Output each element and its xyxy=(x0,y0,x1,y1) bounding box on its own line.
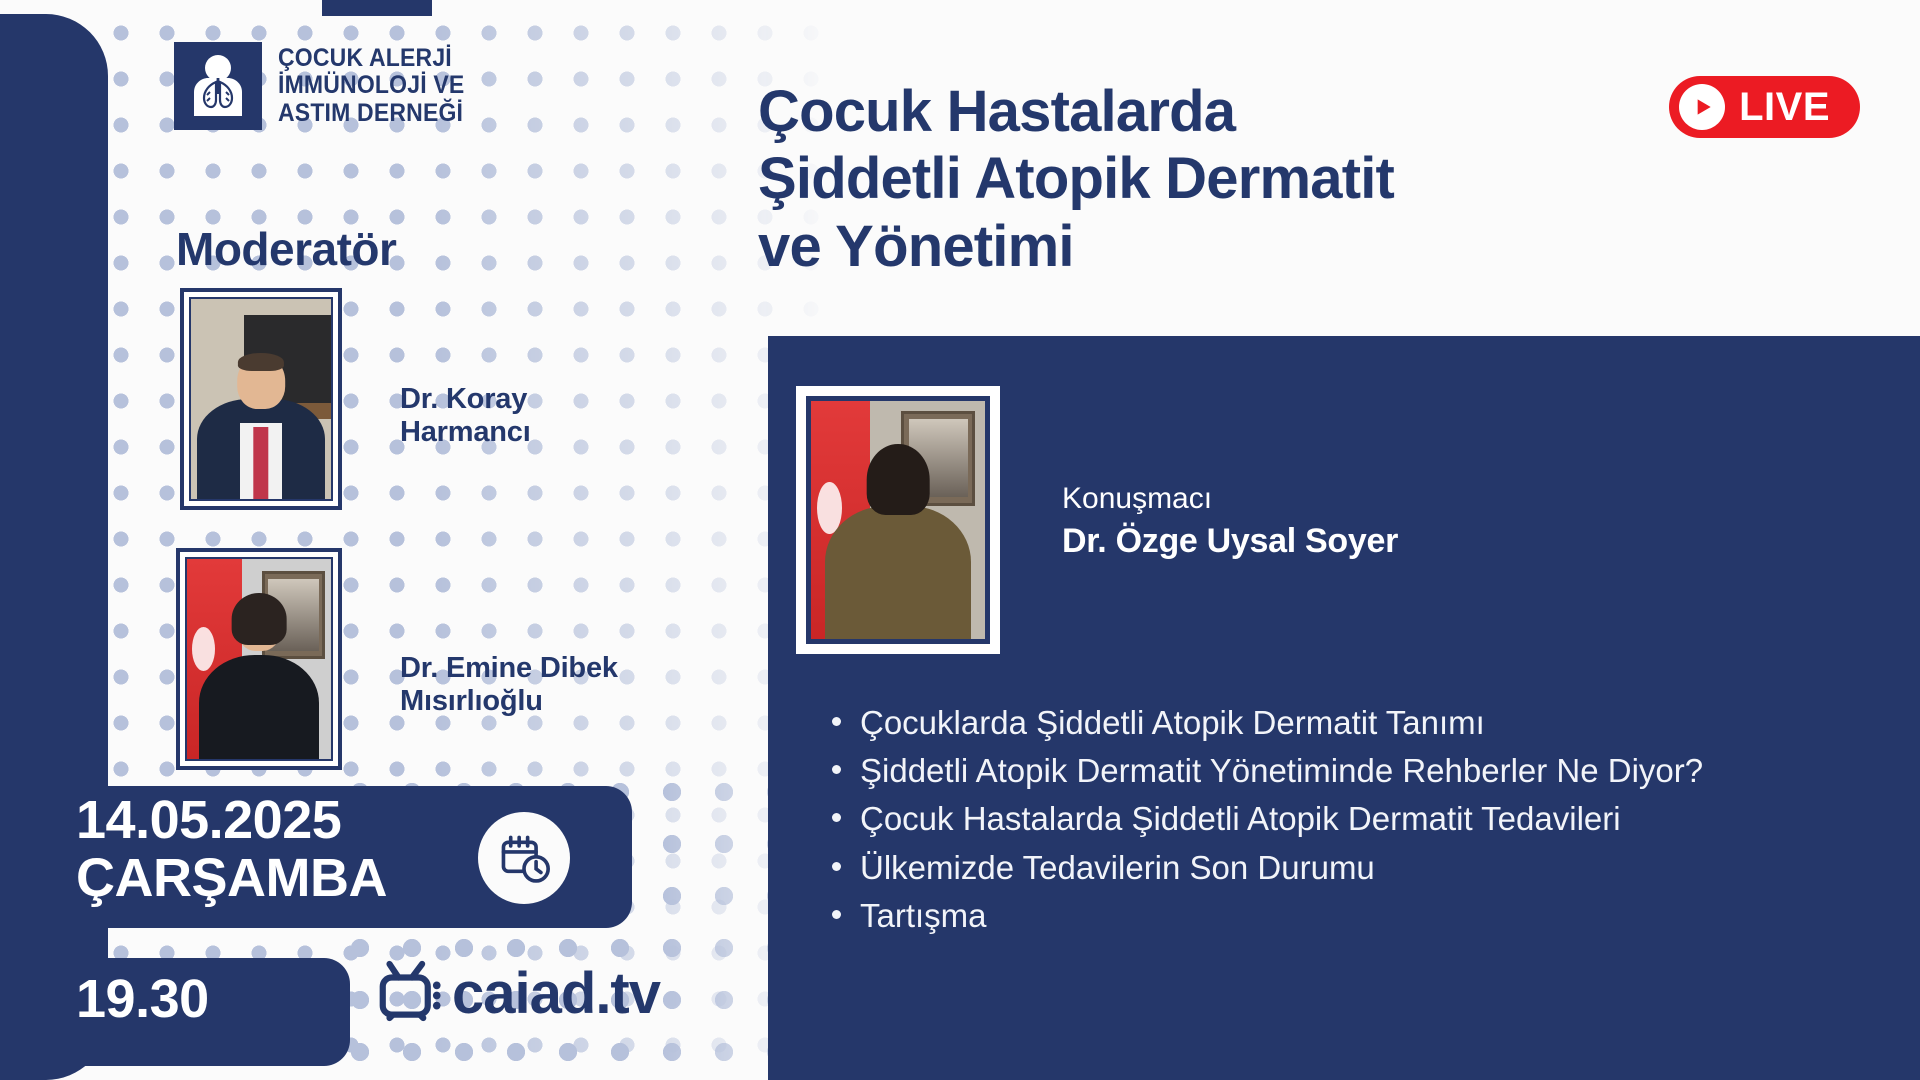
moderator-label: Moderatör xyxy=(176,222,396,276)
speaker-role-label: Konuşmacı xyxy=(1062,482,1212,516)
calendar-clock-icon xyxy=(478,812,570,904)
moderator-2-line-2: Mısırlıoğlu xyxy=(400,685,730,718)
channel-block[interactable]: caiad.tv xyxy=(376,958,660,1029)
organization-logo: ÇOCUK ALERJİ İMMÜNOLOJİ VE ASTIM DERNEĞİ xyxy=(174,42,481,130)
top-accent-tab xyxy=(322,0,432,16)
list-item: Çocuk Hastalarda Şiddetli Atopik Dermati… xyxy=(826,798,1886,840)
moderator-1-line-1: Dr. Koray xyxy=(400,383,690,416)
title-line-3: ve Yönetimi xyxy=(758,213,1818,280)
list-item: Tartışma xyxy=(826,895,1886,937)
portrait-artwork xyxy=(187,559,331,759)
event-date: 14.05.2025 xyxy=(76,792,387,850)
moderator-photo-1 xyxy=(180,288,342,510)
channel-label: caiad.tv xyxy=(452,960,660,1027)
list-item: Ülkemizde Tedavilerin Son Durumu xyxy=(826,847,1886,889)
organization-name: ÇOCUK ALERJİ İMMÜNOLOJİ VE ASTIM DERNEĞİ xyxy=(278,45,464,128)
list-item: Şiddetli Atopik Dermatit Yönetiminde Reh… xyxy=(826,750,1886,792)
list-item: Çocuklarda Şiddetli Atopik Dermatit Tanı… xyxy=(826,702,1886,744)
tv-icon xyxy=(376,958,448,1029)
lungs-person-icon xyxy=(174,42,262,130)
moderator-photo-2 xyxy=(176,548,342,770)
event-day: ÇARŞAMBA xyxy=(76,850,387,908)
org-name-line-3: ASTIM DERNEĞİ xyxy=(278,100,464,128)
moderator-name-2: Dr. Emine Dibek Mısırlıoğlu xyxy=(400,652,730,718)
portrait-artwork xyxy=(191,299,331,499)
moderator-name-1: Dr. Koray Harmancı xyxy=(400,383,690,449)
title-line-1: Çocuk Hastalarda xyxy=(758,78,1818,145)
event-time: 19.30 xyxy=(76,968,209,1030)
title-line-2: Şiddetli Atopik Dermatit xyxy=(758,145,1818,212)
speaker-photo xyxy=(796,386,1000,654)
moderator-2-line-1: Dr. Emine Dibek xyxy=(400,652,730,685)
page-title: Çocuk Hastalarda Şiddetli Atopik Dermati… xyxy=(758,78,1818,280)
speaker-name: Dr. Özge Uysal Soyer xyxy=(1062,522,1398,561)
topic-list: Çocuklarda Şiddetli Atopik Dermatit Tanı… xyxy=(826,702,1886,943)
org-name-line-1: ÇOCUK ALERJİ xyxy=(278,45,464,73)
date-text: 14.05.2025 ÇARŞAMBA xyxy=(76,792,387,908)
moderator-1-line-2: Harmancı xyxy=(400,416,690,449)
org-name-line-2: İMMÜNOLOJİ VE xyxy=(278,72,464,100)
portrait-artwork xyxy=(811,401,985,639)
